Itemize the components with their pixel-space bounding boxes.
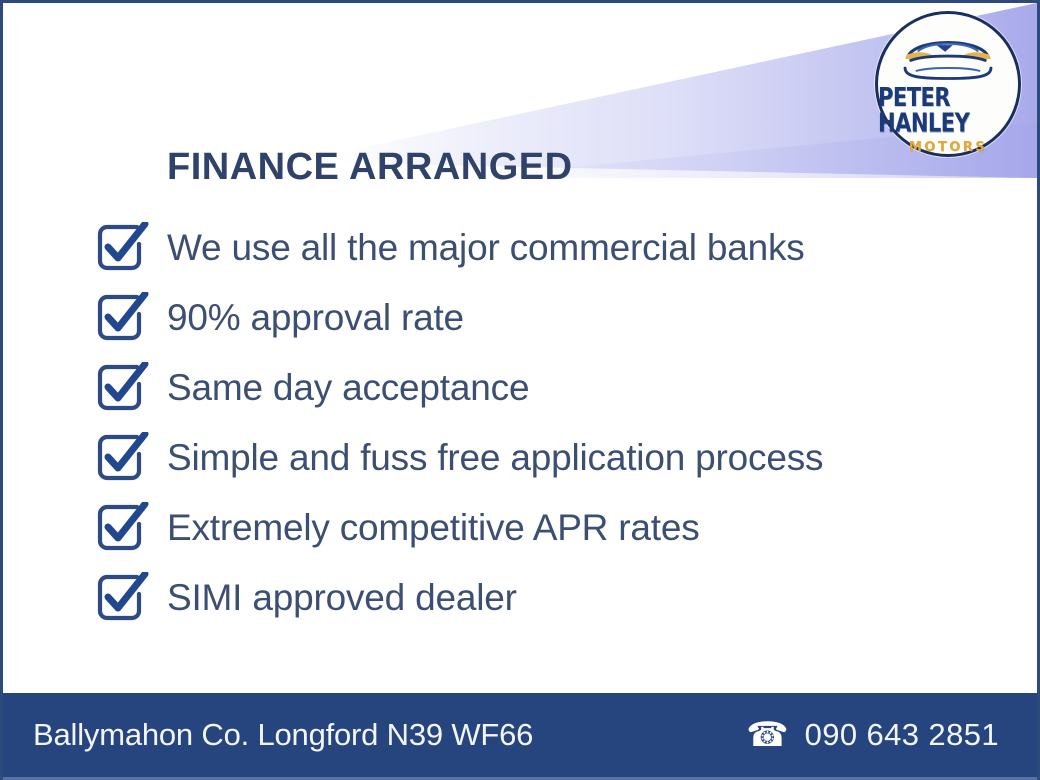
list-item-label: Extremely competitive APR rates [167, 507, 700, 549]
checkbox-checked-icon [95, 222, 153, 274]
checkbox-checked-icon [95, 292, 153, 344]
car-front-icon [889, 26, 1007, 89]
checkbox-checked-icon [95, 432, 153, 484]
list-item-label: SIMI approved dealer [167, 577, 517, 619]
finance-advert-card: PETER HANLEY MOTORS FINANCE ARRANGED We … [0, 0, 1040, 780]
feature-list: We use all the major commercial banks 90… [95, 213, 1037, 633]
list-item-label: We use all the major commercial banks [167, 227, 805, 269]
list-item-label: 90% approval rate [167, 297, 464, 339]
logo-brand-name: PETER HANLEY [878, 85, 1018, 136]
phone-number[interactable]: 090 643 2851 [805, 717, 999, 753]
logo-sub-name: MOTORS [909, 141, 987, 154]
checkbox-checked-icon [95, 362, 153, 414]
list-item-label: Same day acceptance [167, 367, 529, 409]
list-item: SIMI approved dealer [95, 563, 1037, 633]
phone-contact[interactable]: ☎ 090 643 2851 [746, 717, 999, 753]
checkbox-checked-icon [95, 572, 153, 624]
telephone-icon: ☎ [746, 718, 788, 752]
dealer-address: Ballymahon Co. Longford N39 WF66 [33, 717, 533, 753]
list-item: Extremely competitive APR rates [95, 493, 1037, 563]
list-item: Same day acceptance [95, 353, 1037, 423]
footer-contact-bar: Ballymahon Co. Longford N39 WF66 ☎ 090 6… [3, 693, 1037, 780]
list-item: We use all the major commercial banks [95, 213, 1037, 283]
list-item: Simple and fuss free application process [95, 423, 1037, 493]
page-title: FINANCE ARRANGED [167, 146, 1037, 189]
brand-logo-badge[interactable]: PETER HANLEY MOTORS [875, 11, 1021, 157]
list-item: 90% approval rate [95, 283, 1037, 353]
checkbox-checked-icon [95, 502, 153, 554]
list-item-label: Simple and fuss free application process [167, 437, 823, 479]
